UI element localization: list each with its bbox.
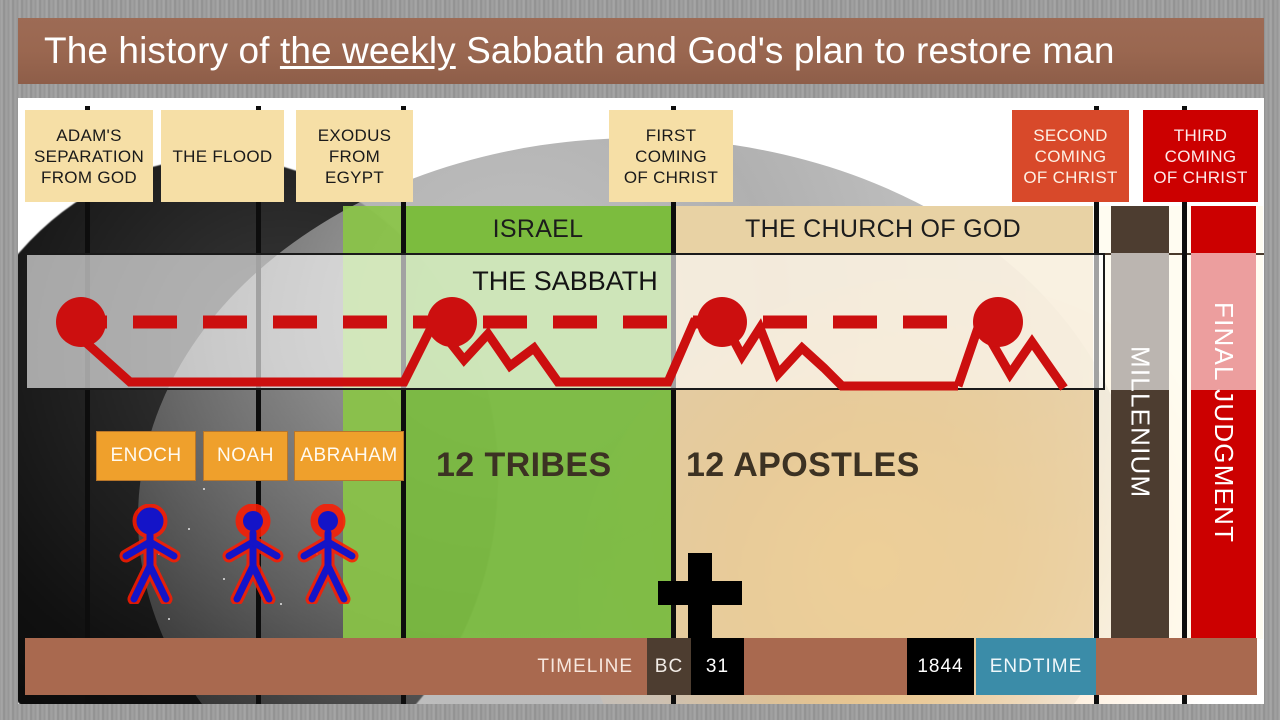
band-header-church-label: THE CHURCH OF GOD	[745, 215, 1021, 244]
sign-exodus-line-1: EXODUS	[318, 125, 392, 146]
sign-exodus-line-2: FROM	[329, 146, 380, 167]
timeline-segment-ad1844-label: 1844	[917, 656, 963, 678]
sabbath-chart-box: THE SABBATH	[25, 253, 1105, 390]
page-title-part-2: Sabbath and God's plan to restore man	[456, 30, 1115, 71]
sign-the-flood[interactable]: THE FLOOD	[161, 110, 284, 202]
page-title-part-1: The history of	[44, 30, 280, 71]
timeline-segment-timeline: TIMELINE	[425, 638, 647, 695]
sign-first-coming-line-3: OF CHRIST	[624, 167, 718, 188]
timeline-segment-bc-label: BC	[655, 656, 683, 678]
stick-figure-noah	[221, 504, 285, 604]
sign-first-coming-line-2: COMING	[635, 146, 707, 167]
plaque-noah: NOAH	[203, 431, 288, 481]
sign-third-coming-line-2: COMING	[1165, 146, 1237, 167]
sign-second-coming-line-1: SECOND	[1033, 125, 1108, 146]
sign-adams-separation-line-1: ADAM'S	[56, 125, 122, 146]
sign-second-coming-line-2: COMING	[1035, 146, 1107, 167]
timeline-bar: TIMELINE BC 31 1844 ENDTIME	[25, 638, 1257, 695]
page-title: The history of the weekly Sabbath and Go…	[44, 30, 1115, 72]
band-header-church: THE CHURCH OF GOD	[673, 206, 1093, 253]
slide-root: The history of the weekly Sabbath and Go…	[0, 0, 1280, 720]
sign-second-coming-of-christ[interactable]: SECOND COMING OF CHRIST	[1012, 110, 1129, 202]
timeline-segment-timeline-label: TIMELINE	[537, 656, 633, 678]
caption-12-tribes: 12 TRIBES	[436, 446, 612, 485]
sign-adams-separation-line-2: SEPARATION	[34, 146, 144, 167]
sign-third-coming-line-3: OF CHRIST	[1153, 167, 1247, 188]
sabbath-chart-title: THE SABBATH	[27, 266, 1103, 297]
stick-figure-enoch	[118, 504, 182, 604]
timeline-segment-ad1844: 1844	[907, 638, 974, 695]
sign-second-coming-line-3: OF CHRIST	[1023, 167, 1117, 188]
timeline-segment-post-endtime	[1096, 638, 1257, 695]
caption-12-apostles-label: 12 APOSTLES	[686, 446, 920, 484]
page-title-underlined: the weekly	[280, 30, 456, 71]
timeline-segment-endtime-label: ENDTIME	[990, 656, 1083, 678]
caption-12-apostles: 12 APOSTLES	[686, 446, 920, 485]
sign-third-coming-line-1: THIRD	[1174, 125, 1227, 146]
plaque-enoch: ENOCH	[96, 431, 196, 481]
star	[188, 528, 190, 530]
plaque-abraham: ABRAHAM	[294, 431, 404, 481]
plaque-abraham-label: ABRAHAM	[300, 445, 397, 467]
plaque-enoch-label: ENOCH	[110, 445, 181, 467]
sign-first-coming-line-1: FIRST	[646, 125, 697, 146]
timeline-segment-pre-timeline	[25, 638, 425, 695]
millenium-wash	[1111, 253, 1169, 390]
timeline-segment-endtime: ENDTIME	[976, 638, 1096, 695]
plaque-noah-label: NOAH	[217, 445, 274, 467]
band-header-israel-label: ISRAEL	[493, 215, 584, 244]
sign-first-coming-of-christ[interactable]: FIRST COMING OF CHRIST	[609, 110, 733, 202]
sign-the-flood-line-1: THE FLOOD	[173, 146, 273, 167]
star	[168, 618, 170, 620]
sign-exodus-from-egypt[interactable]: EXODUS FROM EGYPT	[296, 110, 413, 202]
sign-exodus-line-3: EGYPT	[325, 167, 384, 188]
final-judgment-wash	[1191, 253, 1256, 390]
band-header-israel: ISRAEL	[403, 206, 673, 253]
slide-title-bar: The history of the weekly Sabbath and Go…	[18, 18, 1264, 84]
timeline-segment-gap-ad	[744, 638, 907, 695]
timeline-segment-ad31-label: 31	[706, 656, 729, 678]
sign-adams-separation[interactable]: ADAM'S SEPARATION FROM GOD	[25, 110, 153, 202]
star	[203, 488, 205, 490]
timeline-segment-ad31: 31	[691, 638, 744, 695]
sign-adams-separation-line-3: FROM GOD	[41, 167, 137, 188]
timeline-segment-bc: BC	[647, 638, 691, 695]
sign-third-coming-of-christ[interactable]: THIRD COMING OF CHRIST	[1143, 110, 1258, 202]
caption-12-tribes-label: 12 TRIBES	[436, 446, 612, 484]
stick-figure-abraham	[296, 504, 360, 604]
